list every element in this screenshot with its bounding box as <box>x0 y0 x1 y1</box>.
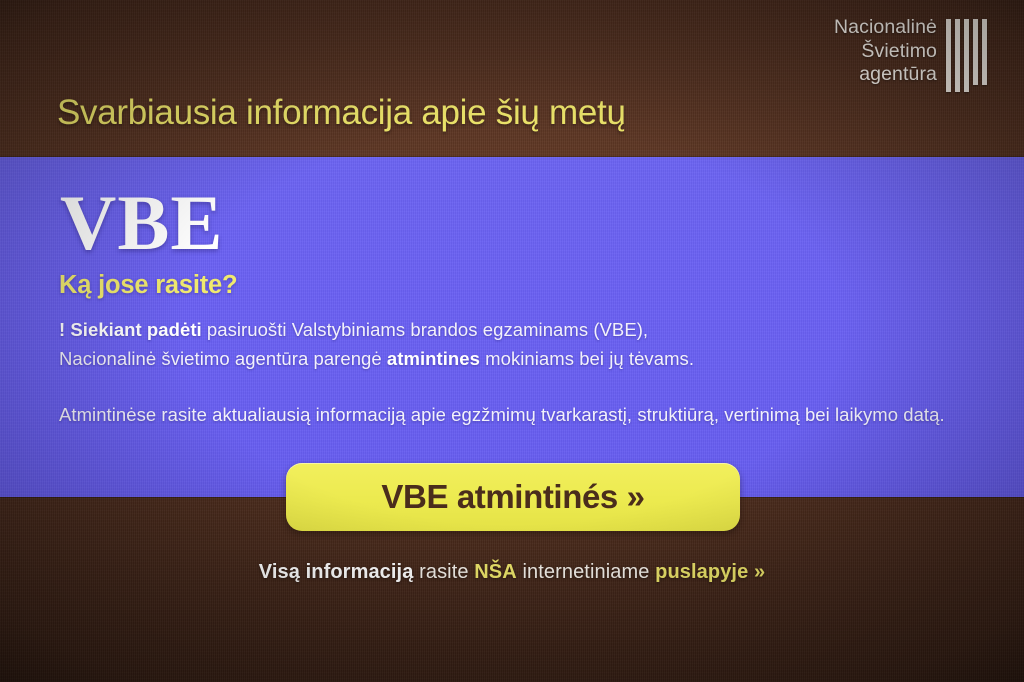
footer-bold-1: Visą informaciją <box>259 561 414 583</box>
vbe-title: VBE <box>60 184 223 262</box>
nsa-logo: Nacionalinė Švietimo agentūra <box>834 16 987 92</box>
page-headline: Svarbiausia informacija apie šių metų <box>57 92 626 134</box>
logo-bar <box>946 19 951 92</box>
vbe-atmintines-button[interactable]: VBE atmintinés » <box>286 463 740 531</box>
paragraph-1-line2-pre: Nacionalinė švietimo agentūra parengė <box>59 348 387 369</box>
logo-line-3: agentūra <box>834 63 937 87</box>
body-copy: ! Siekiant padėti pasiruošti Valstybinia… <box>59 315 979 429</box>
paragraph-1: ! Siekiant padėti pasiruošti Valstybinia… <box>59 315 979 373</box>
logo-line-1: Nacionalinė <box>834 16 937 40</box>
logo-bar <box>982 19 987 85</box>
paragraph-2: Atmintinėse rasite aktualiausią informac… <box>59 400 979 429</box>
footer-link-line[interactable]: Visą informaciją rasite NŠA internetinia… <box>0 559 1024 585</box>
logo-bar <box>964 19 969 92</box>
footer-plain-1: rasite <box>413 561 474 583</box>
poster-root: Nacionalinė Švietimo agentūra Svarbiausi… <box>0 0 1024 682</box>
footer-plain-2: internetiniame <box>517 561 655 583</box>
paragraph-1-line2-post: mokiniams bei jų tėvams. <box>480 348 694 369</box>
subheading: Ką jose rasite? <box>59 270 237 300</box>
paragraph-1-bold2: atmintines <box>387 348 480 369</box>
logo-line-2: Švietimo <box>834 40 937 64</box>
footer-puslapyje-link[interactable]: puslapyje » <box>655 561 765 583</box>
logo-bar <box>955 19 960 92</box>
logo-bars-icon <box>946 16 987 92</box>
logo-bar <box>973 19 978 85</box>
footer-nsa-highlight: NŠA <box>474 561 517 583</box>
paragraph-1-mid: pasiruošti Valstybiniams brandos egzamin… <box>202 319 648 340</box>
content-band: VBE Ką jose rasite? ! Siekiant padėti pa… <box>0 157 1024 497</box>
logo-wordmark: Nacionalinė Švietimo agentūra <box>834 16 937 87</box>
paragraph-1-lead: ! Siekiant padėti <box>59 319 202 340</box>
